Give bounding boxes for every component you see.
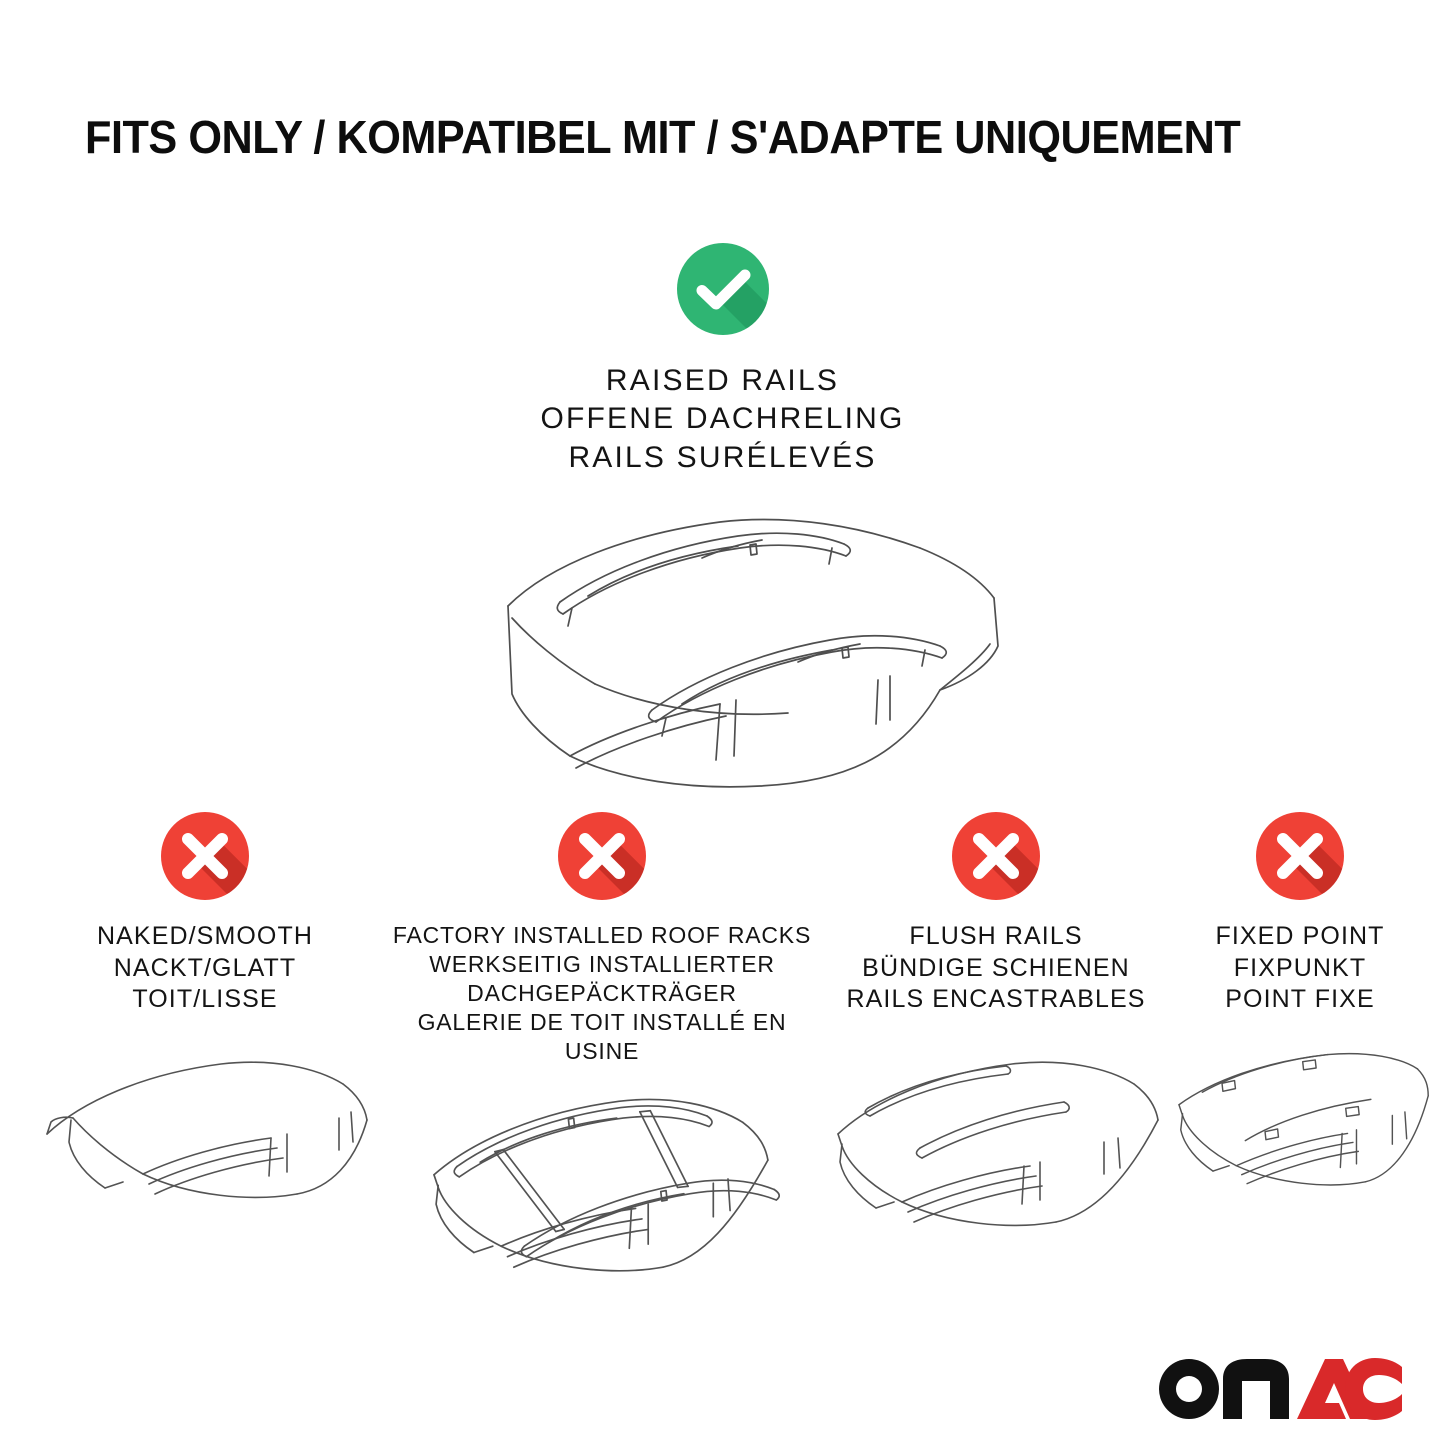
label-fr: POINT FIXE bbox=[1170, 984, 1430, 1016]
logo-letter-c bbox=[1345, 1358, 1402, 1420]
column-labels: FIXED POINT FIXPUNKT POINT FIXE bbox=[1170, 921, 1430, 1016]
x-circle-icon bbox=[1256, 812, 1344, 900]
label-de-2: DACHGEPÄCKTRÄGER bbox=[392, 979, 812, 1008]
check-circle-icon bbox=[677, 243, 769, 335]
label-en: FLUSH RAILS bbox=[812, 921, 1180, 953]
label-en: FIXED POINT bbox=[1170, 921, 1430, 953]
compatible-section: RAISED RAILS OFFENE DACHRELING RAILS SUR… bbox=[0, 243, 1445, 477]
compatibility-infographic: FITS ONLY / KOMPATIBEL MIT / S'ADAPTE UN… bbox=[0, 0, 1445, 1445]
flush-rails-illustration bbox=[812, 1042, 1180, 1257]
roof-racks-illustration bbox=[392, 1074, 812, 1316]
label-de: BÜNDIGE SCHIENEN bbox=[812, 953, 1180, 985]
column-labels: FACTORY INSTALLED ROOF RACKS WERKSEITIG … bbox=[392, 921, 812, 1066]
status-icon-wrap bbox=[392, 812, 812, 905]
bare-roof-illustration bbox=[25, 1042, 385, 1257]
compatible-label-de: OFFENE DACHRELING bbox=[0, 400, 1445, 438]
label-de-1: WERKSEITIG INSTALLIERTER bbox=[392, 950, 812, 979]
status-icon-wrap bbox=[1170, 812, 1430, 905]
incompatible-section: NAKED/SMOOTH NACKT/GLATT TOIT/LISSE bbox=[0, 812, 1445, 1292]
label-fr: GALERIE DE TOIT INSTALLÉ EN USINE bbox=[392, 1008, 812, 1066]
column-labels: NAKED/SMOOTH NACKT/GLATT TOIT/LISSE bbox=[25, 921, 385, 1016]
fixed-point-roof-illustration bbox=[1170, 1042, 1430, 1235]
label-fr: TOIT/LISSE bbox=[25, 984, 385, 1016]
raised-rails-roof-illustration bbox=[420, 498, 1030, 798]
column-labels: FLUSH RAILS BÜNDIGE SCHIENEN RAILS ENCAS… bbox=[812, 921, 1180, 1016]
logo-letter-m bbox=[1223, 1359, 1289, 1419]
incompatible-column-fixed-point: FIXED POINT FIXPUNKT POINT FIXE bbox=[1170, 812, 1430, 1234]
label-fr: RAILS ENCASTRABLES bbox=[812, 984, 1180, 1016]
label-en: FACTORY INSTALLED ROOF RACKS bbox=[392, 921, 812, 950]
incompatible-column-factory-roof-racks: FACTORY INSTALLED ROOF RACKS WERKSEITIG … bbox=[392, 812, 812, 1315]
x-circle-icon bbox=[952, 812, 1040, 900]
status-icon-wrap bbox=[25, 812, 385, 905]
label-de: FIXPUNKT bbox=[1170, 953, 1430, 985]
x-circle-icon bbox=[558, 812, 646, 900]
omac-logo bbox=[1153, 1351, 1403, 1423]
compatible-label-fr: RAILS SURÉLEVÉS bbox=[0, 439, 1445, 477]
label-de: NACKT/GLATT bbox=[25, 953, 385, 985]
compatible-label-en: RAISED RAILS bbox=[0, 362, 1445, 400]
label-en: NAKED/SMOOTH bbox=[25, 921, 385, 953]
incompatible-column-flush-rails: FLUSH RAILS BÜNDIGE SCHIENEN RAILS ENCAS… bbox=[812, 812, 1180, 1257]
x-circle-icon bbox=[161, 812, 249, 900]
page-title: FITS ONLY / KOMPATIBEL MIT / S'ADAPTE UN… bbox=[85, 110, 1298, 164]
compatible-labels: RAISED RAILS OFFENE DACHRELING RAILS SUR… bbox=[0, 362, 1445, 477]
status-icon-wrap bbox=[812, 812, 1180, 905]
incompatible-column-naked-smooth: NAKED/SMOOTH NACKT/GLATT TOIT/LISSE bbox=[25, 812, 385, 1257]
logo-letter-o bbox=[1159, 1359, 1219, 1419]
